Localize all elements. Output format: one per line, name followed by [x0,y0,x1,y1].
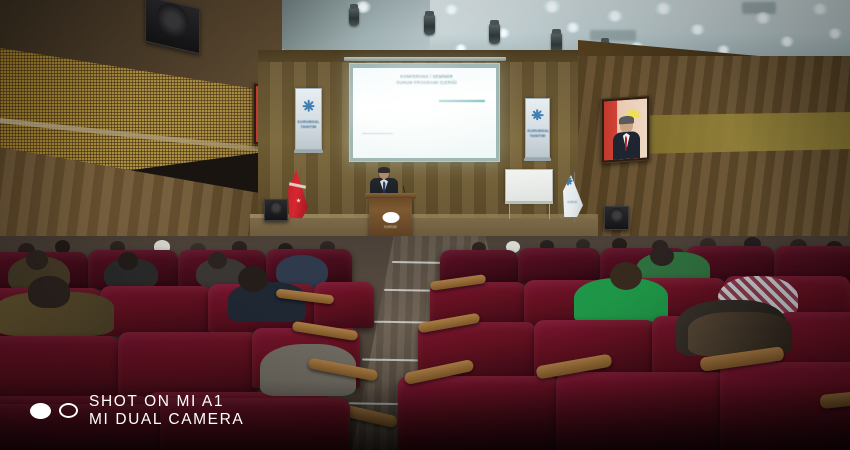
audience-head [238,266,268,292]
banner-base-right [524,158,551,161]
camera-lens-filled-icon [30,403,51,419]
presenter-hair [378,167,390,173]
audience-member [228,282,306,322]
framed-portrait-right [601,95,650,163]
podium-text: KURUM [372,225,408,229]
ceiling-downlight [543,0,561,13]
podium-emblem-icon [382,212,399,223]
watermark-line-2: MI DUAL CAMERA [89,411,244,428]
ceiling-downlight [566,22,580,33]
ceiling-spotlight [349,7,359,26]
banner-base-left [294,150,323,153]
floor-speaker-left [264,199,288,221]
podium: KURUM [369,198,412,238]
projection-screen: KONFERANS / SEMİNER SUNUM PROGRAMI İÇERİ… [349,63,500,162]
whiteboard-leg [509,202,510,219]
watermark-text: SHOT ON MI A1 MI DUAL CAMERA [89,393,244,428]
watermark-line-1: SHOT ON MI A1 [89,393,244,410]
speaker-cone-icon [269,201,283,215]
camera-watermark: SHOT ON MI A1 MI DUAL CAMERA [30,393,244,428]
audience-head [118,252,138,270]
ceiling-spotlight [489,23,500,44]
slide-underline [439,100,485,101]
projected-slide: KONFERANS / SEMİNER SUNUM PROGRAMI İÇERİ… [353,68,496,158]
audience-head [26,250,48,270]
institution-flag-text: KURUM [564,201,580,204]
snowflake-logo-icon [301,99,316,114]
conference-hall-photo: KONFERANS / SEMİNER SUNUM PROGRAMI İÇERİ… [0,0,850,450]
seat-row [314,282,374,328]
rollup-banner-left: KURUMSAL TANITIM [295,88,322,150]
ceiling-downlight [655,2,672,15]
acoustic-panel-right [640,112,850,154]
ceiling-downlight [444,4,459,15]
banner-left-text: KURUMSAL TANITIM [298,120,320,130]
speaker-cone-icon [156,0,189,40]
rollup-banner-right: KURUMSAL TANITIM [525,98,550,158]
ceiling-downlight [780,36,794,47]
ceiling-downlight [828,28,842,39]
whiteboard [505,169,553,202]
banner-right-text: KURUMSAL TANITIM [527,129,547,139]
ceiling-downlight [607,10,623,22]
slide-underline-secondary [362,133,393,134]
ceiling-downlight [812,3,828,15]
camera-lens-ring-icon [59,403,78,418]
portrait-hair [619,115,634,124]
whiteboard-tray [505,202,553,204]
screen-mounting-rail [344,57,506,61]
ceiling-spotlight [424,14,435,35]
whiteboard-leg [549,202,550,219]
audience-head [650,246,674,266]
ceiling-vent [590,30,636,41]
slide-title: KONFERANS / SEMİNER SUNUM PROGRAMI İÇERİ… [366,74,488,86]
snowflake-logo-icon [531,108,544,121]
audience-head [208,252,227,269]
audience-head [28,276,70,308]
seat-row [100,286,212,336]
watermark-lens-icons [30,403,78,419]
speaker-cone-icon [609,208,623,222]
floor-speaker-right [604,206,629,230]
ceiling-downlight [755,12,771,24]
ceiling-downlight [690,24,705,35]
seat-row [518,248,600,284]
audience-head [610,262,642,290]
portrait-canvas [604,98,647,160]
